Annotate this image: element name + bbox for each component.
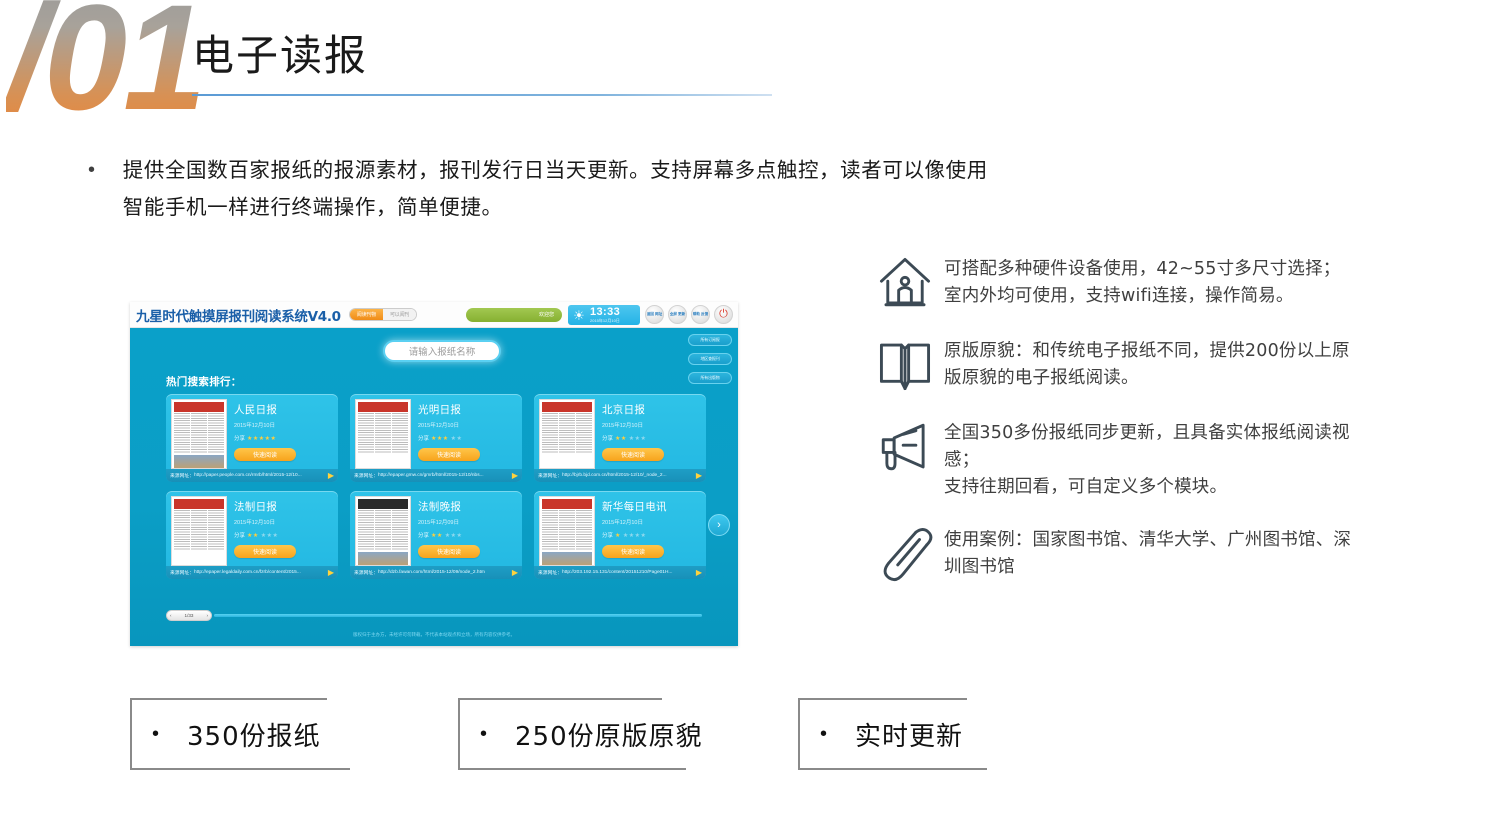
kiosk-date: 2015年12月10日 — [590, 318, 620, 324]
kiosk-round-button-1[interactable]: 返回 网址 — [645, 305, 664, 324]
house-icon — [866, 252, 944, 312]
share-label: 分享 — [602, 434, 613, 442]
thumb-columns — [356, 413, 410, 453]
newspaper-info: 北京日报2015年12月10日分享★★★★★快速阅读 — [602, 399, 664, 477]
pager-prev-icon[interactable]: ‹ — [170, 613, 172, 618]
feature-line: 可搭配多种硬件设备使用，42~55寸多尺寸选择； — [944, 256, 1341, 283]
newspaper-card[interactable]: 法制晚报2015年12月09日分享★★★★★快速阅读来源网址：http://dz… — [350, 491, 522, 579]
newspaper-source-url: 来源网址：http://epaper.gmw.cn/gmrb/html/2015… — [350, 469, 522, 482]
share-label: 分享 — [418, 434, 429, 442]
url-prefix: 来源网址： — [538, 472, 562, 479]
title-underline — [192, 94, 772, 96]
search-input[interactable]: 请输入报纸名称 — [383, 340, 501, 362]
megaphone-icon — [866, 416, 944, 501]
kiosk-tab-inactive[interactable]: 可以阅刊 — [383, 309, 416, 320]
thumb-columns — [540, 413, 594, 453]
newspaper-thumbnail — [355, 399, 411, 469]
quick-read-button[interactable]: 快速阅读 — [418, 545, 480, 558]
url-text: http://epaper.legaldaily.com.cn/fzrb/con… — [194, 570, 301, 575]
url-prefix: 来源网址： — [354, 569, 378, 576]
feature-line: 圳图书馆 — [944, 554, 1351, 581]
side-button-1[interactable]: 所有订阅报 — [688, 334, 732, 346]
play-arrow-icon[interactable]: ▶ — [512, 568, 518, 577]
quick-read-button[interactable]: 快速阅读 — [234, 545, 296, 558]
hot-search-label: 热门搜索排行： — [166, 374, 242, 389]
newspaper-thumbnail — [171, 496, 227, 566]
thumb-photo — [174, 455, 224, 469]
thumb-columns — [540, 510, 594, 550]
url-text: http://dzb.fawan.com/html/2015-12/09/nod… — [378, 570, 485, 575]
url-prefix: 来源网址： — [354, 472, 378, 479]
lead-paragraph: • 提供全国数百家报纸的报源素材，报刊发行日当天更新。支持屏幕多点触控，读者可以… — [88, 152, 988, 226]
feature-item: 可搭配多种硬件设备使用，42~55寸多尺寸选择；室内外均可使用，支持wifi连接… — [866, 252, 1466, 312]
thumb-photo — [542, 552, 592, 566]
side-button-2[interactable]: 地区查报刊 — [688, 353, 732, 365]
callout-box: •350份报纸 — [130, 698, 388, 770]
newspaper-info: 法制日报2015年12月10日分享★★★★★快速阅读 — [234, 496, 296, 574]
lead-text: 提供全国数百家报纸的报源素材，报刊发行日当天更新。支持屏幕多点触控，读者可以像使… — [123, 152, 988, 226]
side-button-3[interactable]: 所有出版物 — [688, 372, 732, 384]
kiosk-titlebar: 九星时代触摸屏报刊阅读系统V4.0 阅读刊物 可以阅刊 欢迎您 ☀ 13:33 … — [130, 302, 738, 328]
thumb-columns — [172, 510, 226, 550]
next-page-button[interactable]: › — [708, 514, 730, 536]
play-arrow-icon[interactable]: ▶ — [696, 568, 702, 577]
callout-frame — [458, 698, 726, 770]
quick-read-button[interactable]: 快速阅读 — [602, 545, 664, 558]
callout-row: •350份报纸•250份原版原貌•实时更新 — [130, 698, 1020, 770]
feature-item: 全国350多份报纸同步更新，且具备实体报纸阅读视感；支持往期回看，可自定义多个模… — [866, 416, 1466, 501]
newspaper-rating: 分享★★★★★ — [418, 434, 480, 442]
newspaper-thumbnail — [539, 496, 595, 566]
stars-filled: ★★ — [247, 532, 259, 539]
newspaper-name: 北京日报 — [602, 402, 664, 417]
masthead — [358, 402, 408, 412]
quick-read-button[interactable]: 快速阅读 — [234, 448, 296, 461]
newspaper-info: 法制晚报2015年12月09日分享★★★★★快速阅读 — [418, 496, 480, 574]
url-prefix: 来源网址： — [170, 569, 194, 576]
newspaper-source-url: 来源网址：http://bjrb.bjd.com.cn/html/2015-12… — [534, 469, 706, 482]
pager-count: 1/33 — [185, 613, 194, 618]
newspaper-date: 2015年12月10日 — [418, 421, 480, 429]
callout-box: •250份原版原貌 — [458, 698, 726, 770]
stars-empty: ★★★ — [629, 435, 647, 442]
kiosk-tab-active[interactable]: 阅读刊物 — [350, 309, 383, 320]
newspaper-date: 2015年12月10日 — [602, 518, 667, 526]
url-text: http://epaper.gmw.cn/gmrb/html/2015-12/1… — [378, 473, 484, 478]
newspaper-source-url: 来源网址：http://paper.people.com.cn/rmrb/htm… — [166, 469, 338, 482]
masthead — [174, 402, 224, 412]
thumb-columns — [172, 413, 226, 453]
pager-track[interactable] — [214, 614, 702, 617]
feature-item: 使用案例：国家图书馆、清华大学、广州图书馆、深圳图书馆 — [866, 523, 1466, 583]
play-arrow-icon[interactable]: ▶ — [328, 471, 334, 480]
feature-line: 室内外均可使用，支持wifi连接，操作简易。 — [944, 283, 1341, 310]
kiosk-pager[interactable]: ‹ 1/33 › — [166, 610, 702, 620]
kiosk-clock: ☀ 13:33 2015年12月10日 — [568, 305, 640, 325]
kiosk-body: 请输入报纸名称 所有订阅报 地区查报刊 所有出版物 热门搜索排行： 人民日报20… — [130, 328, 738, 646]
url-text: http://paper.people.com.cn/rmrb/html/201… — [194, 473, 302, 478]
sun-icon: ☀ — [568, 309, 590, 322]
play-arrow-icon[interactable]: ▶ — [512, 471, 518, 480]
kiosk-side-buttons[interactable]: 所有订阅报 地区查报刊 所有出版物 — [688, 334, 732, 384]
newspaper-rating: 分享★★★★★ — [602, 434, 664, 442]
callout-box: •实时更新 — [798, 698, 1020, 770]
feature-item: 原版原貌：和传统电子报纸不同，提供200份以上原版原貌的电子报纸阅读。 — [866, 334, 1466, 394]
newspaper-date: 2015年12月10日 — [234, 421, 296, 429]
power-icon[interactable]: ⏻ — [714, 305, 733, 324]
url-prefix: 来源网址： — [538, 569, 562, 576]
url-text: http://bjrb.bjd.com.cn/html/2015-12/10/_… — [562, 473, 667, 478]
feature-line: 感； — [944, 447, 1350, 474]
newspaper-card[interactable]: 人民日报2015年12月10日分享★★★★★快速阅读来源网址：http://pa… — [166, 394, 338, 482]
newspaper-info: 光明日报2015年12月10日分享★★★★★快速阅读 — [418, 399, 480, 477]
share-label: 分享 — [234, 531, 245, 539]
lead-bullet: • — [88, 152, 123, 226]
kiosk-status-bar: 欢迎您 — [466, 308, 562, 322]
callout-frame — [130, 698, 388, 770]
page-title: 电子读报 — [192, 22, 368, 83]
stars-filled: ★★★★★ — [247, 435, 276, 442]
url-prefix: 来源网址： — [170, 472, 194, 479]
newspaper-rating: 分享★★★★★ — [418, 531, 480, 539]
kiosk-logo: 九星时代触摸屏报刊阅读系统V4.0 — [136, 305, 341, 325]
play-arrow-icon[interactable]: ▶ — [328, 568, 334, 577]
stars-empty: ★★★ — [261, 532, 279, 539]
newspaper-thumbnail — [171, 399, 227, 469]
newspaper-card[interactable]: 新华每日电讯2015年12月10日分享★★★★★快速阅读来源网址：http://… — [534, 491, 706, 579]
newspaper-source-url: 来源网址：http://dzb.fawan.com/html/2015-12/0… — [350, 566, 522, 579]
newspaper-name: 法制日报 — [234, 499, 296, 514]
feature-text: 使用案例：国家图书馆、清华大学、广州图书馆、深圳图书馆 — [944, 523, 1351, 583]
newspaper-name: 法制晚报 — [418, 499, 480, 514]
search-placeholder: 请输入报纸名称 — [409, 344, 476, 358]
stars-filled: ★★ — [431, 532, 443, 539]
feature-text: 原版原貌：和传统电子报纸不同，提供200份以上原版原貌的电子报纸阅读。 — [944, 334, 1350, 394]
thumb-photo — [358, 552, 408, 566]
section-number: /01 — [6, 0, 203, 132]
thumb-columns — [356, 510, 410, 550]
stars-empty: ★★★ — [445, 532, 463, 539]
feature-line: 版原貌的电子报纸阅读。 — [944, 365, 1350, 392]
play-arrow-icon[interactable]: ▶ — [696, 471, 702, 480]
share-label: 分享 — [418, 531, 429, 539]
kiosk-time: 13:33 — [590, 307, 620, 318]
stars-filled: ★★★ — [431, 435, 449, 442]
stars-filled: ★★ — [615, 435, 627, 442]
newspaper-rating: 分享★★★★★ — [234, 531, 296, 539]
kiosk-round-button-2[interactable]: 全屏 更新 — [668, 305, 687, 324]
newspaper-name: 人民日报 — [234, 402, 296, 417]
feature-list: 可搭配多种硬件设备使用，42~55寸多尺寸选择；室内外均可使用，支持wifi连接… — [866, 252, 1466, 605]
newspaper-card[interactable]: 光明日报2015年12月10日分享★★★★★快速阅读来源网址：http://ep… — [350, 394, 522, 482]
share-label: 分享 — [234, 434, 245, 442]
masthead — [174, 499, 224, 509]
newspaper-card[interactable]: 法制日报2015年12月10日分享★★★★★快速阅读来源网址：http://ep… — [166, 491, 338, 579]
newspaper-date: 2015年12月10日 — [602, 421, 664, 429]
callout-frame — [798, 698, 1020, 770]
masthead — [542, 402, 592, 412]
newspaper-source-url: 来源网址：http://203.192.15.131/content/20151… — [534, 566, 706, 579]
newspaper-date: 2015年12月09日 — [418, 518, 480, 526]
stars-empty: ★★★★ — [623, 532, 647, 539]
newspaper-thumbnail — [355, 496, 411, 566]
newspaper-rating: 分享★★★★★ — [234, 434, 296, 442]
newspaper-card[interactable]: 北京日报2015年12月10日分享★★★★★快速阅读来源网址：http://bj… — [534, 394, 706, 482]
feature-line: 使用案例：国家图书馆、清华大学、广州图书馆、深 — [944, 527, 1351, 554]
pager-box[interactable]: ‹ 1/33 › — [166, 610, 212, 621]
newspaper-source-url: 来源网址：http://epaper.legaldaily.com.cn/fzr… — [166, 566, 338, 579]
slide-canvas: /01 电子读报 • 提供全国数百家报纸的报源素材，报刊发行日当天更新。支持屏幕… — [0, 0, 1510, 823]
kiosk-footer-note: 版权归于主办方，未经许可勿转载，不代表本站观点和立场，所有内容仅供参考。 — [130, 632, 738, 638]
stars-filled: ★ — [615, 532, 621, 539]
masthead — [542, 499, 592, 509]
kiosk-toolbar-buttons[interactable]: 返回 网址 全屏 更新 帮助 反馈 ⏻ — [645, 305, 733, 324]
newspaper-name: 光明日报 — [418, 402, 480, 417]
feature-line: 全国350多份报纸同步更新，且具备实体报纸阅读视 — [944, 420, 1350, 447]
pager-next-icon[interactable]: › — [206, 613, 208, 618]
kiosk-tab-group[interactable]: 阅读刊物 可以阅刊 — [349, 308, 417, 321]
feature-text: 可搭配多种硬件设备使用，42~55寸多尺寸选择；室内外均可使用，支持wifi连接… — [944, 252, 1341, 312]
quick-read-button[interactable]: 快速阅读 — [602, 448, 664, 461]
quick-read-button[interactable]: 快速阅读 — [418, 448, 480, 461]
newspaper-name: 新华每日电讯 — [602, 499, 667, 514]
newspaper-rating: 分享★★★★★ — [602, 531, 667, 539]
kiosk-screenshot: 九星时代触摸屏报刊阅读系统V4.0 阅读刊物 可以阅刊 欢迎您 ☀ 13:33 … — [130, 302, 738, 646]
feature-text: 全国350多份报纸同步更新，且具备实体报纸阅读视感；支持往期回看，可自定义多个模… — [944, 416, 1350, 501]
open-book-icon — [866, 334, 944, 394]
newspaper-date: 2015年12月10日 — [234, 518, 296, 526]
url-text: http://203.192.15.131/content/20151210/P… — [562, 570, 672, 575]
feature-line: 原版原貌：和传统电子报纸不同，提供200份以上原 — [944, 338, 1350, 365]
newspaper-info: 人民日报2015年12月10日分享★★★★★快速阅读 — [234, 399, 296, 477]
masthead — [358, 499, 408, 509]
newspaper-thumbnail — [539, 399, 595, 469]
newspaper-info: 新华每日电讯2015年12月10日分享★★★★★快速阅读 — [602, 496, 667, 574]
share-label: 分享 — [602, 531, 613, 539]
kiosk-round-button-3[interactable]: 帮助 反馈 — [691, 305, 710, 324]
stars-empty: ★★ — [451, 435, 463, 442]
feature-line: 支持往期回看，可自定义多个模块。 — [944, 474, 1350, 501]
paperclip-icon — [866, 523, 944, 583]
newspaper-grid: 人民日报2015年12月10日分享★★★★★快速阅读来源网址：http://pa… — [166, 394, 706, 579]
